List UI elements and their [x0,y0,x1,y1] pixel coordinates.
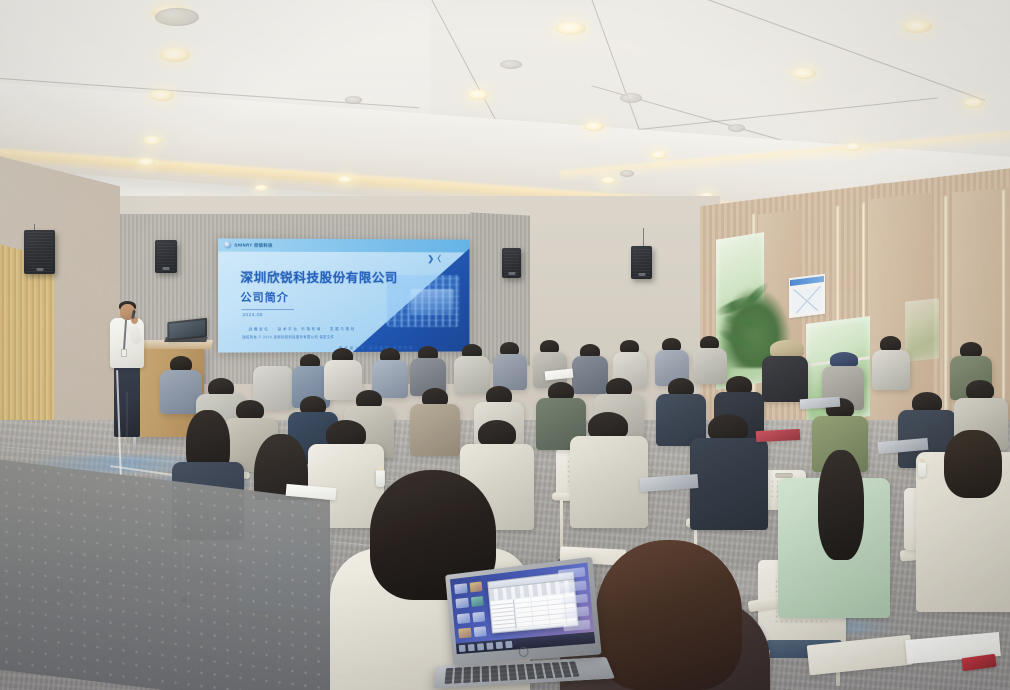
attendee-torso [872,350,910,390]
hp-logo-icon [518,647,529,658]
ceiling-speaker [500,60,522,69]
desktop-icons-right[interactable] [558,567,591,631]
attendee-torso [572,356,608,394]
slide-fine-text-2: 版权所有 © 2024 深圳欣锐科技股份有限公司 保密文件 [242,334,334,339]
ceiling-downlight [651,151,667,159]
water-bottle[interactable] [376,470,385,487]
taskbar-item[interactable] [505,641,512,648]
wall-speaker-far-right[interactable] [631,246,652,279]
desktop-icon[interactable] [454,583,467,594]
wall-speaker-left[interactable] [155,240,177,273]
wall-speaker-right[interactable] [502,248,521,278]
ceiling-downlight [338,176,353,183]
desktop-icon[interactable] [470,596,483,607]
speaker-badge [508,272,515,275]
slide-subtitle: 公司简介 [240,289,289,305]
foreground-laptop[interactable] [436,566,612,690]
laptop-keyboard[interactable] [445,661,580,683]
taskbar-item[interactable] [496,642,503,649]
taskbar-item[interactable] [477,643,484,650]
desktop-icon[interactable] [455,598,468,609]
projection-screen[interactable]: SHINRY 欣锐科技 ❯〈 深圳欣锐科技股份有限公司 公司简介 2024.08… [218,238,469,352]
water-bottle[interactable] [918,462,926,477]
taskbar-start-button[interactable] [459,645,466,652]
attendee-torso [454,356,490,394]
presenter-leg-gap [126,392,128,437]
ceiling-downlight [556,22,586,35]
slide-header-bar: SHINRY 欣锐科技 [218,238,469,252]
led-strip [944,196,947,411]
ceiling-downlight [584,122,604,131]
desktop-icon[interactable] [559,580,587,592]
ceiling-speaker [155,8,199,26]
window-side-list[interactable] [491,600,517,631]
ceiling-downlight [601,177,616,184]
ceiling-speaker [728,124,745,132]
speaker-grille [26,232,53,272]
taskbar-item[interactable] [486,642,493,649]
ribbed-acoustic-wall-right [470,212,530,365]
attendee-torso [693,348,727,384]
attendee-hair [478,420,516,447]
slide-fine-text-1: 战略定位 · 技术平台 市场布局 · 发展与规划 [249,327,356,332]
laptop-lid [445,557,601,665]
attendee-hair [966,380,994,400]
ceiling-downlight [160,48,190,62]
window-far [905,298,939,362]
attendee-hair [818,450,864,560]
taskbar-item[interactable] [468,644,475,651]
speaker-badge [163,267,170,270]
sign-header-bar [790,276,824,286]
attendee-torso [410,404,460,456]
attendee-bucket-hat [770,340,804,357]
ceiling-downlight [143,136,162,145]
ceiling-downlight [903,20,932,33]
desktop-icon[interactable] [472,611,485,622]
desktop-icon[interactable] [469,581,482,592]
ceiling-downlight [138,158,155,166]
company-logo-icon [224,241,231,248]
ceiling-downlight [468,90,489,100]
desk-perforation-texture [0,460,330,690]
speaker-badge [36,268,43,271]
desktop-icon[interactable] [562,607,590,619]
attendee-hair [944,430,1002,498]
slide-divider [241,309,294,310]
desktop-icon[interactable] [458,627,471,638]
desktop-icons-left[interactable] [452,579,489,642]
slide-footer-note: 新产品上市 技术路线 业务布局 [339,345,414,350]
desktop-icon[interactable] [457,613,470,624]
wall-speaker-far-left[interactable] [24,230,55,274]
ceiling-speaker [620,170,634,177]
attendee-torso [493,354,527,390]
ceiling-downlight [792,68,816,79]
speaker-cable [643,228,644,246]
attendee-torso [570,436,648,528]
slide-corner-mark: ❯〈 [428,253,440,264]
ceiling-speaker [345,96,362,104]
desktop-icon[interactable] [563,620,591,631]
presentation-slide: SHINRY 欣锐科技 ❯〈 深圳欣锐科技股份有限公司 公司简介 2024.08… [218,238,469,352]
desktop-icon[interactable] [560,593,588,605]
attendee-baseball-cap [830,352,858,367]
desktop-icon[interactable] [558,567,586,579]
slide-product-illustration-detail [410,289,453,315]
company-logo-text: SHINRY 欣锐科技 [234,242,272,248]
laptop-screen[interactable] [450,563,595,655]
wall-notice-sign [789,274,825,318]
led-strip [1002,190,1005,415]
ceiling-downlight [963,98,984,108]
presenter-laptop[interactable] [167,318,207,341]
sign-content [792,286,822,314]
meeting-room-photo: SHINRY 欣锐科技 ❯〈 深圳欣锐科技股份有限公司 公司简介 2024.08… [0,0,1010,690]
slide-title: 深圳欣锐科技股份有限公司 [240,267,397,286]
ceiling-downlight [150,90,174,101]
slide-date: 2024.08 [242,312,262,317]
foreground-desk [0,460,330,690]
attendee-torso [690,438,768,530]
ceiling-downlight [255,185,268,191]
ceiling-downlight [845,143,862,151]
attendee-torso [762,356,808,402]
attendee-torso [324,360,362,400]
presenter-badge [121,349,127,357]
red-bag [756,429,801,442]
speaker-badge [638,273,645,276]
attendee-hair [596,540,742,690]
ceiling-speaker [620,93,642,103]
attendee-hair [236,400,264,420]
desktop-icon[interactable] [473,626,486,637]
